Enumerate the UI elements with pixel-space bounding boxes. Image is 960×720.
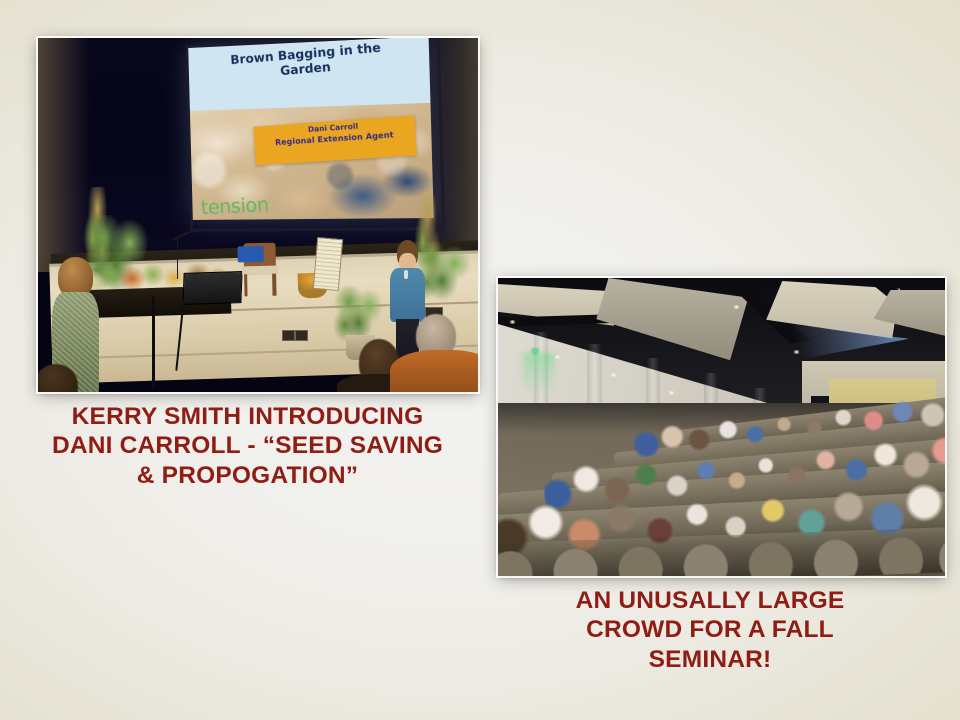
presentation-slide: Brown Bagging in the Garden Dani Carroll…: [0, 0, 960, 720]
crowd-photo-caption: AN UNUSALLY LARGE CROWD FOR A FALL SEMIN…: [500, 586, 920, 674]
stage-photo-caption: KERRY SMITH INTRODUCING DANI CARROLL - “…: [20, 402, 475, 490]
stage-outlet-right: [295, 330, 308, 341]
stage-monitor-speaker: [183, 271, 243, 305]
ceiling-downlight-6: [793, 350, 800, 354]
handheld-microphone: [404, 270, 408, 279]
ceiling-downlight-5: [733, 305, 740, 309]
foreground-audience-shoulders-2: [390, 350, 478, 392]
stage-caption-line-1: KERRY SMITH INTRODUCING: [20, 402, 475, 431]
stage-scene: Brown Bagging in the Garden Dani Carroll…: [38, 38, 478, 392]
auditorium-crowd-photo: [498, 278, 945, 576]
stage-caption-line-2: DANI CARROLL - “SEED SAVING: [20, 431, 475, 460]
kerry-smith-introducing-dani-carroll-photo: Brown Bagging in the Garden Dani Carroll…: [38, 38, 478, 392]
green-light-wash-1: [523, 353, 554, 404]
blue-cloth-on-chair: [238, 246, 264, 262]
extension-logo-text: tension: [200, 192, 269, 219]
microphone-stand: [177, 236, 179, 278]
ceiling-downlight-1: [509, 320, 516, 324]
mic-pole-foreground: [152, 296, 155, 388]
stage-chair: [240, 243, 281, 297]
crowd-caption-line-2: CROWD FOR A FALL: [500, 615, 920, 644]
stage-outlet-left: [282, 330, 295, 341]
chair-leg-right: [273, 274, 277, 296]
chair-leg-left: [244, 274, 248, 296]
easel-flipchart: [313, 237, 344, 291]
slide-title: Brown Bagging in the Garden: [194, 38, 423, 84]
crowd-caption-line-3: SEMINAR!: [500, 645, 920, 674]
crowd-caption-line-1: AN UNUSALLY LARGE: [500, 586, 920, 615]
stage-caption-line-3: & PROPOGATION”: [20, 461, 475, 490]
potted-fern: [333, 286, 386, 343]
projection-screen: Brown Bagging in the Garden Dani Carroll…: [188, 38, 435, 220]
seated-audience: [498, 403, 945, 576]
